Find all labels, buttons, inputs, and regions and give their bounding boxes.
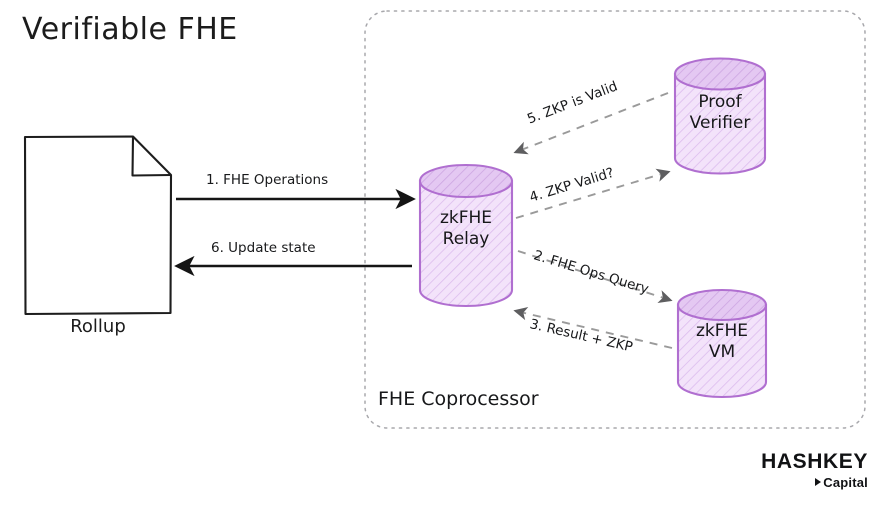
fhe-coprocessor-label: FHE Coprocessor bbox=[378, 388, 539, 410]
logo-wordmark: HASHKEY bbox=[761, 451, 868, 473]
logo-subtitle: Capital bbox=[761, 475, 868, 490]
hashkey-capital-logo: HASHKEY Capital bbox=[761, 451, 868, 490]
node-proof-verifier[interactable] bbox=[675, 59, 765, 174]
node-label-rollup: Rollup bbox=[25, 316, 171, 337]
page-title: Verifiable FHE bbox=[22, 12, 238, 47]
node-zkfhe-vm[interactable] bbox=[678, 290, 766, 397]
node-zkfhe-relay[interactable] bbox=[420, 165, 512, 306]
edge-4-line bbox=[516, 172, 668, 218]
edge-5-line bbox=[516, 93, 668, 152]
logo-subtitle-text: Capital bbox=[823, 475, 868, 490]
triangle-icon bbox=[815, 478, 821, 486]
diagram-canvas bbox=[0, 0, 886, 506]
node-rollup[interactable] bbox=[25, 137, 171, 315]
edge-3-line bbox=[516, 311, 672, 348]
edge-2-line bbox=[518, 251, 670, 300]
